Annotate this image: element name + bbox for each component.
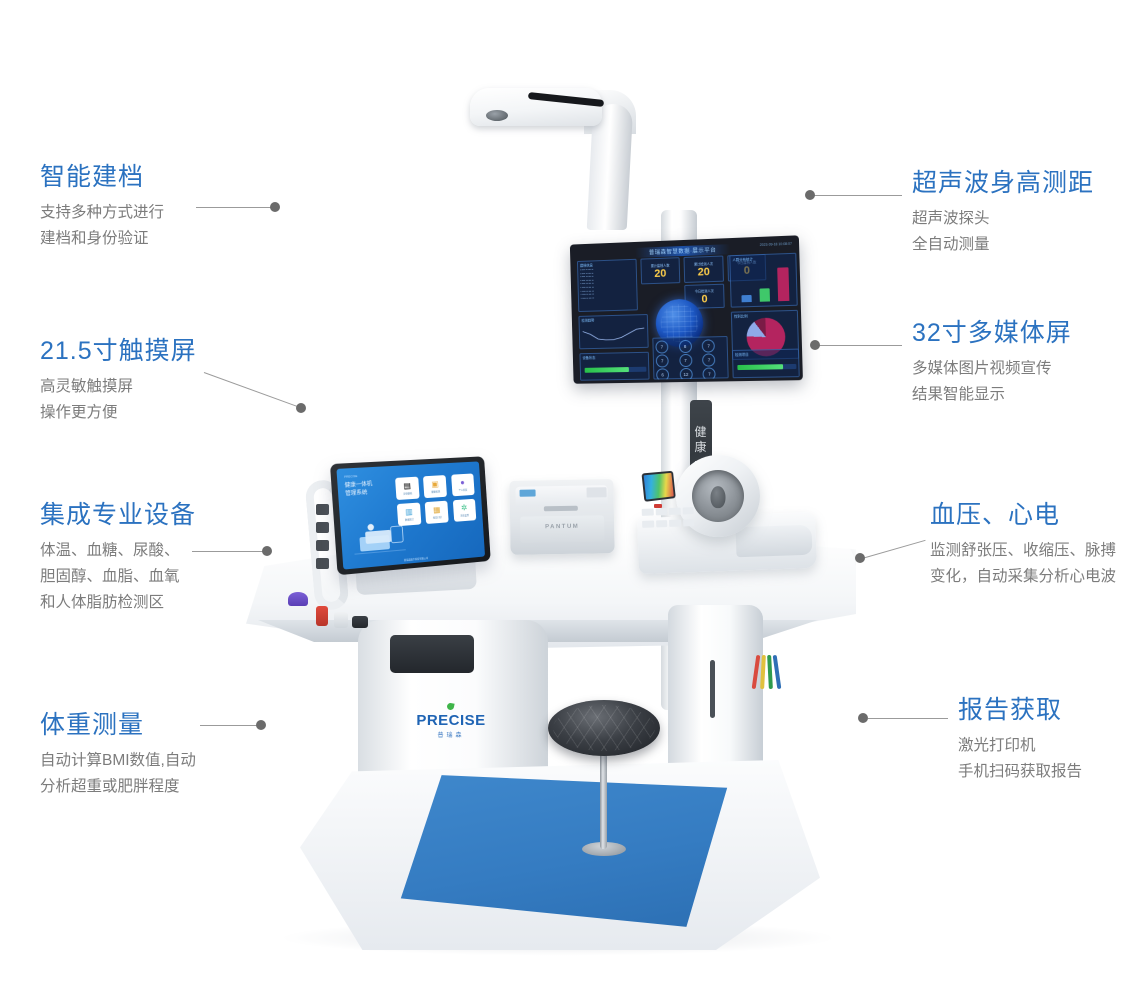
badge-char-1: 健 [694, 425, 707, 440]
callout-title: 报告获取 [958, 695, 1082, 725]
device-white-module[interactable] [334, 612, 348, 628]
desc-line-2: 手机扫码获取报告 [958, 763, 1082, 780]
leader-dot-report-acquire [858, 713, 868, 723]
callout-desc: 高灵敏触摸屏 操作更方便 [40, 374, 197, 426]
brand-logo-sub: 普瑞森 [406, 730, 496, 739]
grid-item: 7 [656, 354, 669, 367]
handle-button[interactable] [316, 540, 329, 551]
right-pedestal-slot [710, 660, 715, 718]
pedestal-dark-panel [390, 635, 474, 673]
device-blood-sampler[interactable] [288, 592, 308, 606]
tablet-screen: PRECISE 健康一体机 管理系统 ▤ 身份建档 ▣ 健康检测 ● [336, 461, 485, 569]
kpi-value: 20 [654, 267, 666, 279]
bp-key[interactable] [655, 508, 667, 515]
bp-key[interactable] [683, 519, 695, 526]
badge-char-2: 康 [694, 440, 707, 455]
grid-item: 8 [679, 340, 692, 353]
cable-green [767, 655, 773, 689]
stool-post [600, 753, 607, 849]
bp-key[interactable] [669, 508, 681, 515]
bp-start-button[interactable] [654, 504, 662, 508]
desc-line-1: 监测舒张压、收缩压、脉搏 [930, 542, 1116, 559]
leader-dot-integrated-devices [262, 546, 272, 556]
callout-title: 血压、心电 [930, 500, 1116, 530]
callout-desc: 超声波探头 全自动测量 [912, 206, 1094, 258]
tablet-app-id-card[interactable]: ▤ 身份建档 [395, 477, 420, 500]
app-label: 报告打印 [433, 515, 442, 520]
stool-seat[interactable] [548, 700, 660, 756]
bp-key[interactable] [642, 521, 654, 528]
bp-key[interactable] [682, 507, 694, 514]
trend-sparkline [583, 324, 647, 345]
laser-printer[interactable]: PANTUM [509, 479, 614, 555]
brand-logo: PRECISE 普瑞森 [406, 712, 496, 739]
dashboard-panel-gauge-left: 设备状态 [579, 352, 649, 381]
panel-title-bar-chart: 人群分布统计 [730, 254, 795, 263]
callout-desc: 体温、血糖、尿酸、 胆固醇、血脂、血氧 和人体脂肪检测区 [40, 538, 196, 616]
callout-desc: 激光打印机 手机扫码获取报告 [958, 733, 1082, 785]
tablet-illustration [350, 520, 408, 559]
callout-title: 超声波身高测距 [912, 168, 1094, 198]
callout-title: 32寸多媒体屏 [912, 318, 1072, 348]
gauge-fill [737, 364, 783, 370]
desc-line-2: 建档和身份验证 [40, 230, 149, 247]
chart-icon: ▥ [405, 507, 413, 517]
dashboard-panel-archive-list: 建档信息 ▪ ▪▪▪▪ ▪▪ ▪▪▪ ▪▪ ▪ ▪▪▪▪ ▪▪ ▪▪▪ ▪▪ ▪… [577, 259, 638, 312]
device-dark-module[interactable] [352, 616, 368, 628]
desc-line-1: 体温、血糖、尿酸、 [40, 542, 180, 559]
id-card-icon: ▤ [403, 481, 411, 490]
clipboard-icon: ▣ [431, 479, 439, 488]
callout-weight-measure: 体重测量 自动计算BMI数值,自动 分析超重或肥胖程度 [40, 710, 196, 800]
bp-key[interactable] [656, 520, 668, 527]
tablet-app-grid: ▤ 身份建档 ▣ 健康检测 ● 个人档案 ▥ 数据统计 [395, 473, 477, 526]
grid-item: 7 [703, 367, 716, 380]
gauge-fill [585, 367, 629, 373]
handle-button[interactable] [316, 558, 329, 569]
desc-line-2: 全自动测量 [912, 236, 990, 253]
grid-item: 7 [679, 354, 692, 367]
desc-line-2: 变化，自动采集分析心电波 [930, 568, 1116, 585]
dashboard-kpi-card: 累计建档人数 20 [640, 257, 680, 284]
tablet-app-health-check[interactable]: ▣ 健康检测 [423, 475, 447, 498]
cable-yellow [760, 655, 766, 689]
bar-3 [777, 267, 789, 301]
callout-integrated-devices: 集成专业设备 体温、血糖、尿酸、 胆固醇、血脂、血氧 和人体脂肪检测区 [40, 500, 196, 616]
leader-line-ultrasonic-height [812, 195, 902, 196]
callout-smart-archive: 智能建档 支持多种方式进行 建档和身份验证 [40, 162, 164, 252]
leader-dot-weight-measure [256, 720, 266, 730]
desc-line-2: 胆固醇、血脂、血氧 [40, 568, 180, 585]
tablet-app-profile[interactable]: ● 个人档案 [451, 473, 475, 496]
app-label: 系统设置 [460, 513, 469, 518]
bar-1 [741, 295, 751, 302]
ultrasonic-probe-lens-icon [486, 110, 508, 121]
bar-2 [759, 288, 770, 301]
panel-title-gauge-left: 设备状态 [580, 353, 648, 361]
grid-item: 7 [702, 339, 715, 352]
tablet-title: 健康一体机 管理系统 [344, 480, 373, 498]
desc-line-3: 和人体脂肪检测区 [40, 594, 164, 611]
grid-item: 6 [656, 368, 669, 380]
callout-ultrasonic-height: 超声波身高测距 超声波探头 全自动测量 [912, 168, 1094, 258]
bp-key[interactable] [669, 520, 681, 527]
dashboard-screen: 普瑞森智慧数据·展示平台 2023-09-18 10:08:07 建档信息 ▪ … [573, 238, 800, 380]
bp-color-display [641, 471, 675, 502]
gear-icon: ✲ [461, 503, 468, 512]
printer-keypad[interactable] [586, 487, 606, 497]
bp-arm-rest [735, 525, 812, 558]
dashboard-panel-gauge-right: 检测项目 [732, 349, 800, 379]
leader-line-weight-measure [200, 725, 262, 726]
printer-display [520, 489, 536, 496]
desc-line-1: 激光打印机 [958, 737, 1036, 754]
device-red-module[interactable] [316, 606, 328, 626]
desc-line-2: 结果智能显示 [912, 386, 1005, 403]
desc-line-1: 超声波探头 [912, 210, 990, 227]
desc-line-2: 分析超重或肥胖程度 [40, 778, 180, 795]
handle-button[interactable] [316, 522, 329, 533]
panel-title-trend: 检测趋势 [579, 315, 647, 324]
printer-paper-slot [544, 506, 578, 512]
list-row: ▪ ▪▪▪▪ ▪▪ ▪▪▪ ▪▪ [581, 295, 635, 300]
callout-touchscreen: 21.5寸触摸屏 高灵敏触摸屏 操作更方便 [40, 336, 197, 426]
bp-cuff-opening [692, 470, 744, 522]
callout-report-acquire: 报告获取 激光打印机 手机扫码获取报告 [958, 695, 1082, 785]
ecg-cable-bundle [754, 655, 794, 701]
user-icon: ● [460, 478, 465, 487]
tablet-title-line-2: 管理系统 [345, 490, 368, 498]
callout-title: 智能建档 [40, 162, 164, 192]
leader-dot-smart-archive [270, 202, 280, 212]
tablet-footer: 普瑞森医疗科技有限公司 [404, 556, 428, 562]
dashboard-panel-bar-chart: 人群分布统计 [729, 253, 797, 308]
leader-line-smart-archive [196, 207, 274, 208]
leader-line-integrated-devices [192, 551, 266, 552]
product-diagram: 健 康 一 体 普瑞森智慧数据·展示平台 2023-09-18 10:08:07… [0, 0, 1140, 984]
callout-desc: 多媒体图片视频宣传 结果智能显示 [912, 356, 1072, 408]
app-label: 身份建档 [403, 491, 412, 496]
kpi-value: 0 [701, 293, 707, 305]
leader-dot-touchscreen [296, 403, 306, 413]
leader-dot-bp-ecg [855, 553, 865, 563]
tablet-subtitle: PRECISE [344, 474, 358, 479]
panel-title-gauge-right: 检测项目 [733, 350, 798, 358]
dashboard-panel-item-grid: 7 8 7 7 7 7 6 12 7 [652, 336, 728, 380]
printer-icon: ▦ [433, 505, 441, 514]
bp-keypad[interactable] [642, 507, 695, 531]
callout-desc: 自动计算BMI数值,自动 分析超重或肥胖程度 [40, 748, 196, 800]
brand-logo-text: PRECISE [406, 712, 496, 729]
dashboard-panel-trend: 检测趋势 [578, 314, 648, 349]
tablet-app-settings[interactable]: ✲ 系统设置 [453, 499, 476, 522]
callout-title: 集成专业设备 [40, 500, 196, 530]
tablet-app-print[interactable]: ▦ 报告打印 [425, 501, 449, 524]
callout-desc: 监测舒张压、收缩压、脉搏 变化，自动采集分析心电波 [930, 538, 1116, 590]
desc-line-1: 高灵敏触摸屏 [40, 378, 133, 395]
desc-line-1: 支持多种方式进行 [40, 204, 164, 221]
dashboard-timestamp: 2023-09-18 10:08:07 [760, 242, 792, 247]
grid-item: 7 [655, 340, 668, 353]
dashboard-kpi-card: 累计检测人次 20 [683, 255, 723, 282]
app-label: 健康检测 [431, 489, 440, 494]
leader-line-multimedia-screen [818, 345, 902, 346]
callout-multimedia-screen: 32寸多媒体屏 多媒体图片视频宣传 结果智能显示 [912, 318, 1072, 408]
callout-desc: 支持多种方式进行 建档和身份验证 [40, 200, 164, 252]
desc-line-1: 多媒体图片视频宣传 [912, 360, 1052, 377]
tablet-title-line-1: 健康一体机 [345, 481, 373, 489]
multimedia-monitor[interactable]: 普瑞森智慧数据·展示平台 2023-09-18 10:08:07 建档信息 ▪ … [570, 235, 803, 383]
app-label: 数据统计 [405, 517, 414, 522]
cable-blue [773, 655, 782, 689]
callout-bp-ecg: 血压、心电 监测舒张压、收缩压、脉搏 变化，自动采集分析心电波 [930, 500, 1116, 590]
leader-dot-ultrasonic-height [805, 190, 815, 200]
grid-item: 12 [679, 368, 692, 381]
callout-title: 21.5寸触摸屏 [40, 336, 197, 366]
desc-line-1: 自动计算BMI数值,自动 [40, 752, 196, 769]
callout-title: 体重测量 [40, 710, 196, 740]
kpi-value: 20 [697, 266, 710, 278]
leader-line-report-acquire [868, 718, 948, 719]
leader-dot-multimedia-screen [810, 340, 820, 350]
desc-line-2: 操作更方便 [40, 404, 118, 421]
health-kiosk-illustration: 健 康 一 体 普瑞森智慧数据·展示平台 2023-09-18 10:08:07… [238, 60, 878, 940]
handle-button[interactable] [316, 504, 329, 515]
grid-item: 7 [702, 353, 715, 366]
touchscreen-tablet[interactable]: PRECISE 健康一体机 管理系统 ▤ 身份建档 ▣ 健康检测 ● [330, 456, 491, 575]
bp-key[interactable] [642, 509, 654, 516]
app-label: 个人档案 [459, 488, 468, 492]
